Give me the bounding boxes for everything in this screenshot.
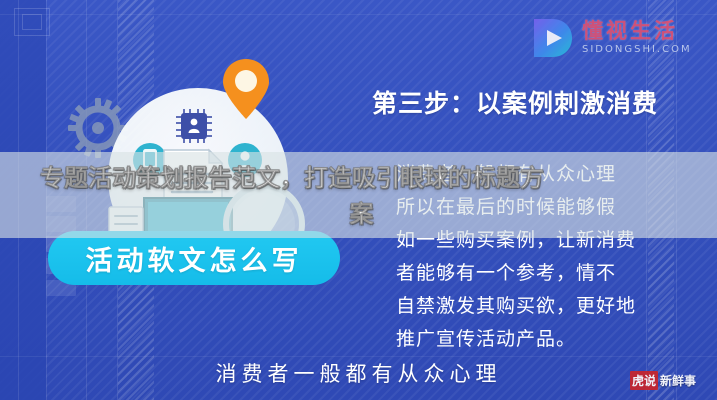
overlay-headline-line-1: 专题活动策划报告范文，打造吸引眼球的标题方 [40,160,683,196]
brand-text-block: 懂视生活 SIDONGSHI.COM [582,21,692,55]
poster-pill-banner: 活动软文怎么写 [48,231,340,285]
poster-step-title: 第三步：以案例刺激消费 [372,84,658,120]
overlay-headline: 专题活动策划报告范文，打造吸引眼球的标题方 案 [40,160,683,232]
source-watermark-rest: 新鲜事 [660,372,696,389]
body-line-6: 推广宣传活动产品。 [396,323,688,356]
source-watermark: 虎说 新鲜事 [630,371,696,390]
background-hline-bottom [0,356,717,357]
brand-name: 懂视生活 [582,21,692,42]
chip-icon [176,109,212,143]
body-line-4: 者能够有一个参考，情不 [396,257,688,290]
location-pin-icon [222,57,270,121]
poster-pill-label: 活动软文怎么写 [86,239,303,278]
source-watermark-badge: 虎说 [630,371,658,390]
poster-bottom-caption: 消费者一般都有从众心理 [0,358,717,388]
brand-watermark: 懂视生活 SIDONGSHI.COM [530,16,692,60]
poster-image: 第三步：以案例刺激消费 消费者一般都有从众心理 所以在最后的时候能够假 如一些购… [0,0,717,400]
background-hline-top [0,14,717,15]
body-line-5: 自禁激发其购买欲，更好地 [396,290,688,323]
background-corner-square-inner [22,14,42,30]
overlay-headline-line-2: 案 [40,196,683,232]
brand-domain: SIDONGSHI.COM [582,45,692,55]
play-button-d-logo-icon [530,16,574,60]
